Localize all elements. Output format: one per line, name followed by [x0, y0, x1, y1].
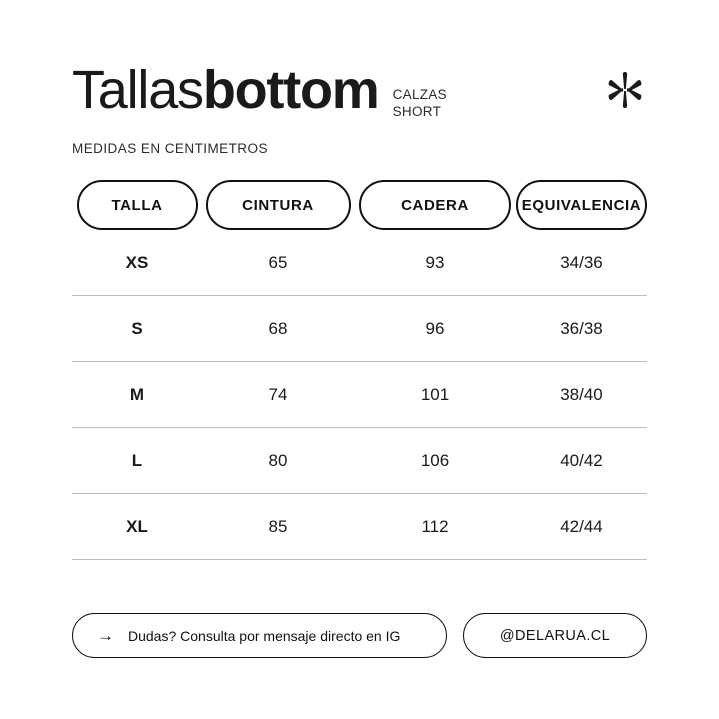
- cell-cintura: 74: [202, 385, 354, 405]
- title-light: Tallas: [72, 60, 203, 120]
- cell-cadera: 101: [354, 385, 516, 405]
- column-header-cadera-label: CADERA: [359, 180, 511, 230]
- table-row: XL 85 112 42/44: [72, 494, 647, 559]
- title-strong: bottom: [203, 60, 379, 120]
- column-header-equivalencia: EQUIVALENCIA: [516, 180, 647, 230]
- table-header-row: TALLA CINTURA CADERA EQUIVALENCIA: [72, 180, 647, 230]
- column-header-cadera: CADERA: [354, 180, 516, 230]
- column-header-equivalencia-label: EQUIVALENCIA: [516, 180, 647, 230]
- column-header-cintura-label: CINTURA: [206, 180, 351, 230]
- cell-talla: L: [72, 451, 202, 471]
- column-header-talla-label: TALLA: [77, 180, 198, 230]
- title-row: Tallasbottom CALZAS SHORT: [72, 62, 647, 120]
- cell-cintura: 68: [202, 319, 354, 339]
- table-row: S 68 96 36/38: [72, 296, 647, 361]
- arrow-right-icon: →: [97, 627, 112, 644]
- column-header-cintura: CINTURA: [202, 180, 354, 230]
- cell-talla: XL: [72, 517, 202, 537]
- size-table: TALLA CINTURA CADERA EQUIVALENCIA XS 65 …: [72, 180, 647, 560]
- table-row: M 74 101 38/40: [72, 362, 647, 427]
- cell-equivalencia: 36/38: [516, 319, 647, 339]
- title-subtitle-line1: CALZAS: [393, 86, 447, 103]
- instagram-handle-button[interactable]: @DELARUA.CL: [463, 613, 647, 658]
- cell-cadera: 112: [354, 517, 516, 537]
- cell-talla: XS: [72, 253, 202, 273]
- cell-cadera: 106: [354, 451, 516, 471]
- cell-equivalencia: 38/40: [516, 385, 647, 405]
- cell-talla: S: [72, 319, 202, 339]
- row-divider: [72, 559, 647, 560]
- cell-equivalencia: 40/42: [516, 451, 647, 471]
- measures-note: MEDIDAS EN CENTIMETROS: [72, 141, 647, 156]
- column-header-talla: TALLA: [72, 180, 202, 230]
- size-chart-card: Tallasbottom CALZAS SHORT MEDIDAS EN CEN…: [0, 0, 719, 719]
- table-row: XS 65 93 34/36: [72, 230, 647, 295]
- cell-cintura: 65: [202, 253, 354, 273]
- cell-talla: M: [72, 385, 202, 405]
- instagram-handle-label: @DELARUA.CL: [500, 628, 610, 644]
- cell-cintura: 80: [202, 451, 354, 471]
- header: Tallasbottom CALZAS SHORT MEDIDAS EN CEN…: [72, 0, 647, 156]
- page-title: Tallasbottom: [72, 62, 379, 118]
- dm-cta-label: Dudas? Consulta por mensaje directo en I…: [128, 628, 400, 644]
- cell-equivalencia: 42/44: [516, 517, 647, 537]
- title-subtitle-line2: SHORT: [393, 103, 447, 120]
- asterisk-icon: [603, 68, 647, 112]
- dm-cta-button[interactable]: → Dudas? Consulta por mensaje directo en…: [72, 613, 447, 658]
- cell-cintura: 85: [202, 517, 354, 537]
- table-row: L 80 106 40/42: [72, 428, 647, 493]
- footer: → Dudas? Consulta por mensaje directo en…: [72, 613, 647, 658]
- title-subtitle: CALZAS SHORT: [393, 62, 447, 120]
- cell-cadera: 93: [354, 253, 516, 273]
- cell-cadera: 96: [354, 319, 516, 339]
- cell-equivalencia: 34/36: [516, 253, 647, 273]
